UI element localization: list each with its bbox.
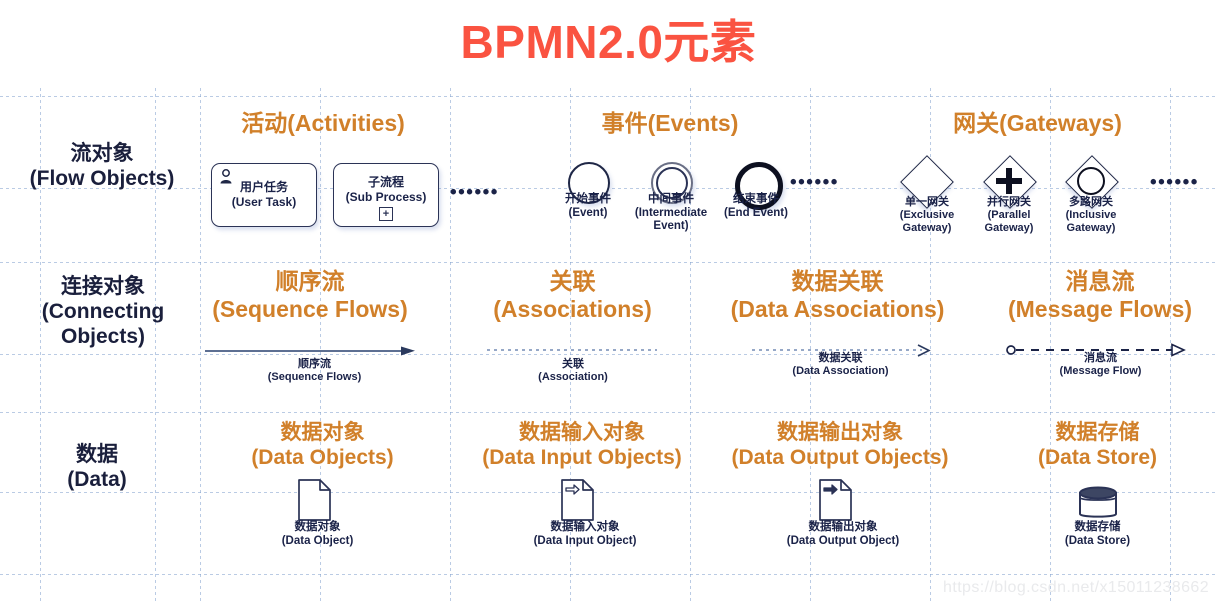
grid-line-h	[0, 574, 1217, 575]
events-ellipsis: ••••••	[790, 172, 839, 194]
data-object-caption: 数据对象 (Data Object)	[255, 521, 380, 548]
message-flow-caption-en: (Message Flow)	[1048, 365, 1153, 378]
data-store-caption-en: (Data Store)	[1035, 535, 1160, 549]
intermediate-event-caption-en: (Intermediate Event)	[620, 207, 722, 234]
data-store-caption-cn: 数据存储	[1035, 521, 1160, 535]
grid-line-v	[690, 88, 691, 601]
inclusive-gateway-caption-en: (Inclusive Gateway)	[1052, 209, 1130, 235]
parallel-gateway-caption-en: (Parallel Gateway)	[970, 209, 1048, 235]
data-output-document[interactable]	[818, 478, 854, 527]
group-title-cn: 数据关联	[700, 268, 975, 296]
row-label-cn: 流对象	[12, 142, 192, 167]
group-title-en: (Data Input Objects)	[452, 445, 712, 470]
group-title-en: (Data Output Objects)	[705, 445, 975, 470]
group-title-message-flows: 消息流 (Message Flows)	[985, 268, 1215, 323]
end-event-caption-en: (End Event)	[710, 207, 802, 221]
data-output-caption-cn: 数据输出对象	[778, 521, 908, 535]
intermediate-event-caption: 中间事件 (Intermediate Event)	[620, 193, 722, 234]
parallel-gateway-caption: 并行网关 (Parallel Gateway)	[970, 196, 1048, 235]
group-title-cn: 数据存储	[990, 420, 1205, 445]
group-title-cn: 数据对象	[215, 420, 430, 445]
row-label-en: (Flow Objects)	[12, 167, 192, 192]
data-association-caption-cn: 数据关联	[788, 352, 893, 365]
data-association-caption-en: (Data Association)	[788, 365, 893, 378]
data-output-caption-en: (Data Output Object)	[778, 535, 908, 549]
user-task-box[interactable]: 用户任务 (User Task)	[211, 163, 317, 227]
data-input-caption-cn: 数据输入对象	[520, 521, 650, 535]
exclusive-gateway-caption-cn: 单一网关	[888, 196, 966, 209]
group-title-sequence-flows: 顺序流 (Sequence Flows)	[185, 268, 435, 323]
data-output-caption: 数据输出对象 (Data Output Object)	[778, 521, 908, 548]
grid-line-v	[200, 88, 201, 601]
data-association-caption: 数据关联 (Data Association)	[788, 352, 893, 378]
sequence-flow-caption: 顺序流 (Sequence Flows)	[262, 358, 367, 384]
group-title-cn: 数据输出对象	[705, 420, 975, 445]
row-label-cn: 连接对象	[8, 275, 198, 300]
group-title-cn: 关联	[460, 268, 685, 296]
circle-icon	[1077, 167, 1105, 195]
activities-ellipsis: ••••••	[450, 182, 499, 204]
group-title-en: (Data Associations)	[700, 296, 975, 324]
user-task-label-cn: 用户任务	[240, 180, 288, 194]
row-label-data: 数据 (Data)	[22, 443, 172, 493]
row-label-en: (Data)	[22, 468, 172, 493]
group-title-data-associations: 数据关联 (Data Associations)	[700, 268, 975, 323]
data-input-document[interactable]	[560, 478, 596, 527]
sequence-flow-caption-cn: 顺序流	[262, 358, 367, 371]
group-title-cn: 顺序流	[185, 268, 435, 296]
user-task-label: 用户任务 (User Task)	[212, 180, 316, 210]
data-object-document[interactable]	[297, 478, 333, 527]
expand-plus-icon[interactable]: +	[379, 207, 393, 221]
group-title-en: (Sequence Flows)	[185, 296, 435, 324]
message-flow-caption: 消息流 (Message Flow)	[1048, 352, 1153, 378]
sub-process-box[interactable]: 子流程 (Sub Process) +	[333, 163, 439, 227]
data-object-caption-en: (Data Object)	[255, 535, 380, 549]
data-object-caption-cn: 数据对象	[255, 521, 380, 535]
row-label-cn: 数据	[22, 443, 172, 468]
sequence-flow-arrow	[205, 345, 417, 359]
group-title-gateways: 网关(Gateways)	[920, 110, 1155, 138]
group-title-events: 事件(Events)	[560, 110, 780, 138]
grid-line-h	[0, 262, 1217, 263]
data-store-caption: 数据存储 (Data Store)	[1035, 521, 1160, 548]
intermediate-event-caption-cn: 中间事件	[620, 193, 722, 207]
group-title-associations: 关联 (Associations)	[460, 268, 685, 323]
inclusive-gateway-caption-cn: 多路网关	[1052, 196, 1130, 209]
sub-process-label-cn: 子流程	[368, 175, 404, 189]
page-title: BPMN2.0元素	[0, 6, 1217, 72]
sequence-flow-caption-en: (Sequence Flows)	[262, 371, 367, 384]
group-title-data-store: 数据存储 (Data Store)	[990, 420, 1205, 470]
group-title-en: (Data Store)	[990, 445, 1205, 470]
data-input-caption: 数据输入对象 (Data Input Object)	[520, 521, 650, 548]
sub-process-label-en: (Sub Process)	[346, 190, 427, 204]
group-title-en: (Message Flows)	[985, 296, 1215, 324]
end-event-caption-cn: 结束事件	[710, 193, 802, 207]
sub-process-label: 子流程 (Sub Process)	[334, 175, 438, 205]
exclusive-gateway-caption-en: (Exclusive Gateway)	[888, 209, 966, 235]
group-title-data-input-objects: 数据输入对象 (Data Input Objects)	[452, 420, 712, 470]
end-event-caption: 结束事件 (End Event)	[710, 193, 802, 220]
row-label-connecting-objects: 连接对象 (Connecting Objects)	[8, 275, 198, 349]
grid-line-v	[450, 88, 451, 601]
exclusive-gateway-caption: 单一网关 (Exclusive Gateway)	[888, 196, 966, 235]
group-title-data-output-objects: 数据输出对象 (Data Output Objects)	[705, 420, 975, 470]
row-label-en: (Connecting Objects)	[8, 300, 198, 350]
group-title-cn: 消息流	[985, 268, 1215, 296]
grid-line-h	[0, 492, 1217, 493]
group-title-data-objects: 数据对象 (Data Objects)	[215, 420, 430, 470]
group-title-en: (Associations)	[460, 296, 685, 324]
gateways-ellipsis: ••••••	[1150, 172, 1199, 194]
message-flow-caption-cn: 消息流	[1048, 352, 1153, 365]
watermark: https://blog.csdn.net/x15011238662	[943, 579, 1209, 597]
inclusive-gateway-caption: 多路网关 (Inclusive Gateway)	[1052, 196, 1130, 235]
association-caption-cn: 关联	[518, 358, 628, 371]
association-dotted-line	[487, 348, 657, 354]
row-label-flow-objects: 流对象 (Flow Objects)	[12, 142, 192, 192]
grid-line-h	[0, 96, 1217, 97]
plus-icon	[996, 168, 1022, 194]
association-caption: 关联 (Association)	[518, 358, 628, 384]
user-task-label-en: (User Task)	[232, 195, 296, 209]
group-title-activities: 活动(Activities)	[208, 110, 438, 138]
parallel-gateway-caption-cn: 并行网关	[970, 196, 1048, 209]
association-caption-en: (Association)	[518, 371, 628, 384]
group-title-cn: 数据输入对象	[452, 420, 712, 445]
grid-line-h	[0, 412, 1217, 413]
data-input-caption-en: (Data Input Object)	[520, 535, 650, 549]
group-title-en: (Data Objects)	[215, 445, 430, 470]
